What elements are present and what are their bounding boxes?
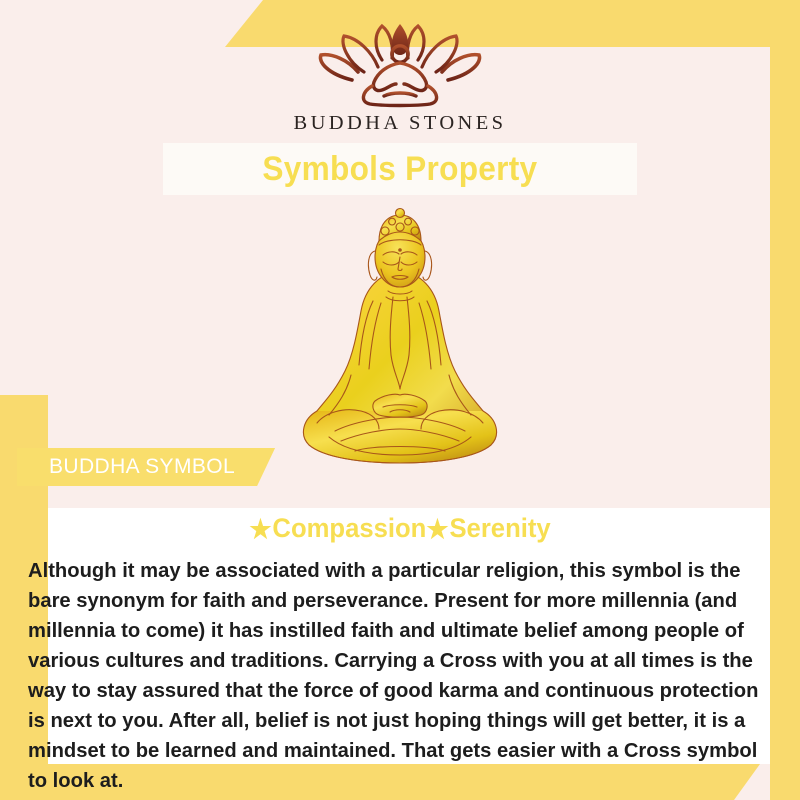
attribute-serenity: Serenity [449, 513, 550, 544]
lotus-meditation-figure-icon [312, 22, 488, 108]
brand-logo: BUDDHA STONES [0, 22, 800, 135]
buddha-statue-image [0, 205, 800, 490]
star-icon-right: ★ [426, 516, 448, 542]
brand-name: BUDDHA STONES [294, 112, 507, 135]
title-banner: Symbols Property [163, 143, 637, 195]
page-title: Symbols Property [262, 150, 537, 189]
description-paragraph: Although it may be associated with a par… [28, 556, 765, 796]
promo-page: BUDDHA STONES Symbols Property [0, 0, 800, 800]
star-icon-left: ★ [249, 516, 271, 542]
buddha-symbol-tag: BUDDHA SYMBOL [17, 448, 275, 486]
buddha-symbol-tag-label: BUDDHA SYMBOL [49, 455, 235, 479]
attributes-headline: ★ Compassion ★ Serenity [20, 513, 780, 544]
attribute-compassion: Compassion [272, 513, 426, 544]
